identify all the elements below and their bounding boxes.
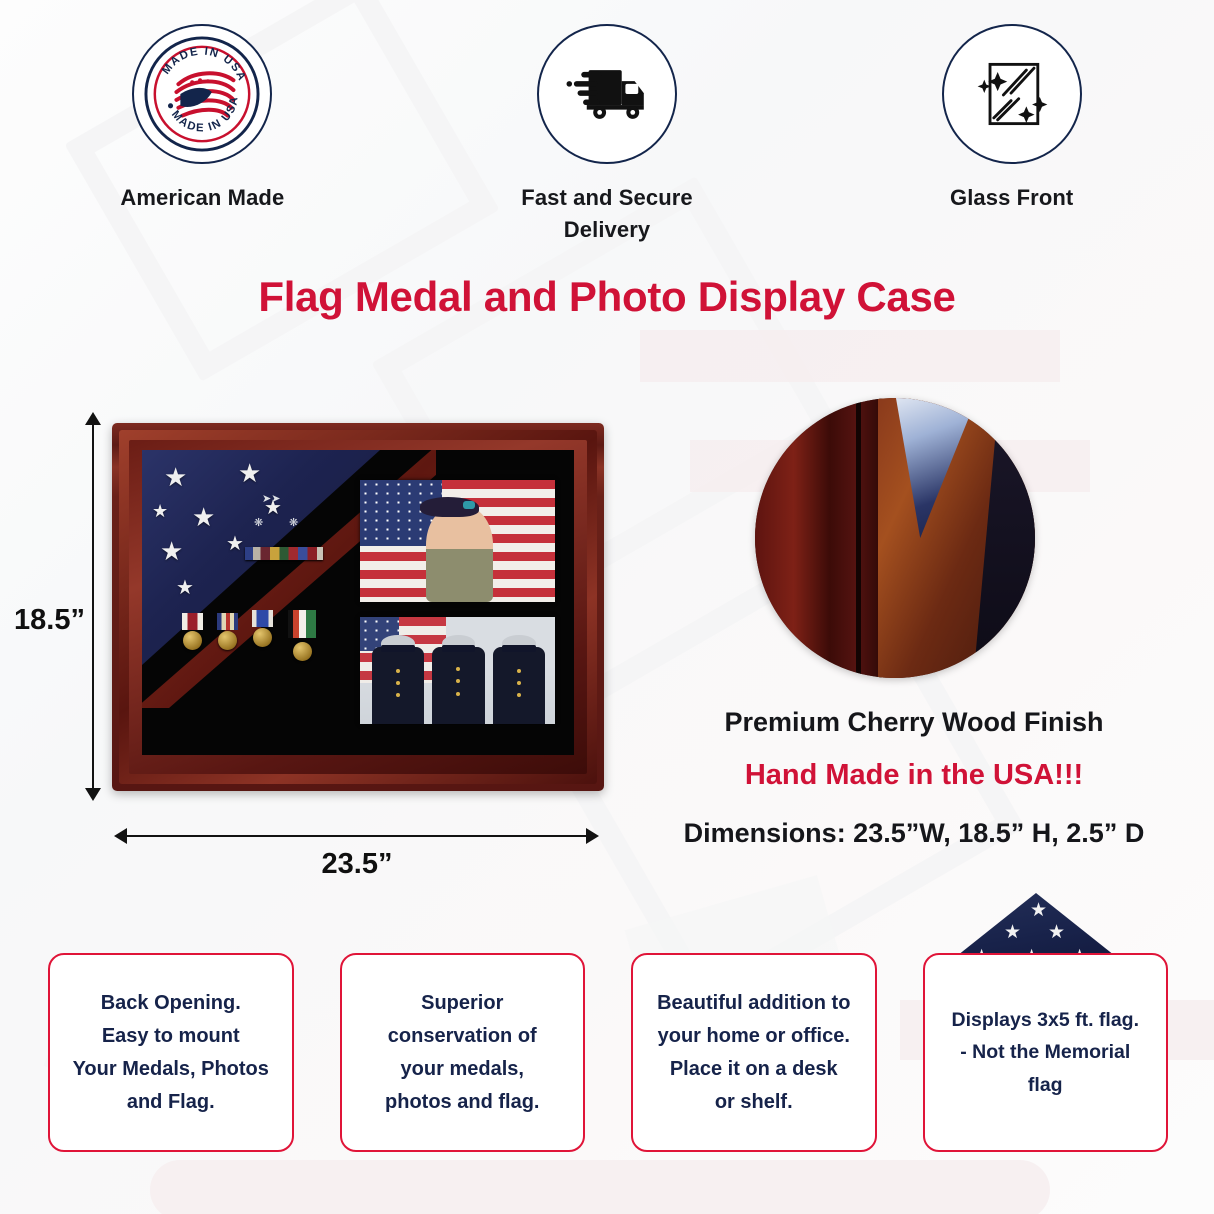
feature-box-home-office: Beautiful addition to your home or offic… xyxy=(631,953,877,1152)
dimensions-text: Dimensions: 23.5”W, 18.5” H, 2.5” D xyxy=(614,818,1214,849)
feature-badges: MADE IN USA MADE IN USA American Made xyxy=(0,24,1214,254)
feature-text-3: Beautiful addition to your home or offic… xyxy=(657,987,850,1119)
feature-text-1: Back Opening. Easy to mount Your Medals,… xyxy=(73,987,269,1119)
width-dimension-arrow xyxy=(126,835,587,837)
height-dimension-arrow xyxy=(92,423,94,790)
glass-pane-sparkle-icon xyxy=(942,24,1082,164)
medal-3 xyxy=(252,610,273,647)
infographic-page: MADE IN USA MADE IN USA American Made xyxy=(0,0,1214,1214)
medal-1 xyxy=(182,613,203,650)
badge-american-made: MADE IN USA MADE IN USA American Made xyxy=(0,24,405,254)
feature-box-back-opening: Back Opening. Easy to mount Your Medals,… xyxy=(48,953,294,1152)
detail-caption: Premium Cherry Wood Finish xyxy=(614,707,1214,738)
feature-box-flag-size: Displays 3x5 ft. flag. - Not the Memoria… xyxy=(923,953,1169,1152)
badge-label-glass-front: Glass Front xyxy=(950,182,1073,214)
medal-2 xyxy=(217,613,238,650)
medal-4 xyxy=(288,610,316,661)
display-case-interior: ★ ★ ★ ★ ★ ★ ★ ★ ➤➤ ❋ ❋ xyxy=(142,450,574,755)
badge-fast-delivery: Fast and Secure Delivery xyxy=(405,24,810,254)
feature-box-conservation: Superior conservation of your medals, ph… xyxy=(340,953,586,1152)
feature-text-2: Superior conservation of your medals, ph… xyxy=(385,987,539,1119)
feature-box-row: Back Opening. Easy to mount Your Medals,… xyxy=(48,953,1168,1152)
feature-text-4: Displays 3x5 ft. flag. - Not the Memoria… xyxy=(952,1004,1140,1101)
made-in-usa-seal-icon: MADE IN USA MADE IN USA xyxy=(132,24,272,164)
badge-glass-front: Glass Front xyxy=(809,24,1214,254)
product-image: ★ ★ ★ ★ ★ ★ ★ ★ ➤➤ ❋ ❋ xyxy=(112,423,604,791)
cherry-wood-frame: ★ ★ ★ ★ ★ ★ ★ ★ ➤➤ ❋ ❋ xyxy=(112,423,604,791)
width-dimension-label: 23.5” xyxy=(0,848,714,881)
photo-soldier xyxy=(360,480,555,602)
badge-label-fast-delivery: Fast and Secure Delivery xyxy=(521,182,692,246)
handmade-highlight: Hand Made in the USA!!! xyxy=(614,759,1214,792)
cherry-wood-closeup-image xyxy=(755,398,1035,678)
photo-marines xyxy=(360,617,555,724)
ribbon-bar xyxy=(245,547,323,560)
page-title: Flag Medal and Photo Display Case xyxy=(0,273,1214,321)
height-dimension-label: 18.5” xyxy=(14,604,85,637)
rank-insignia-eagle: ➤➤ xyxy=(262,492,280,505)
rank-insignia-leaf-left: ❋ xyxy=(254,516,263,529)
badge-label-american-made: American Made xyxy=(120,182,284,214)
fast-delivery-truck-icon xyxy=(537,24,677,164)
rank-insignia-leaf-right: ❋ xyxy=(289,516,298,529)
